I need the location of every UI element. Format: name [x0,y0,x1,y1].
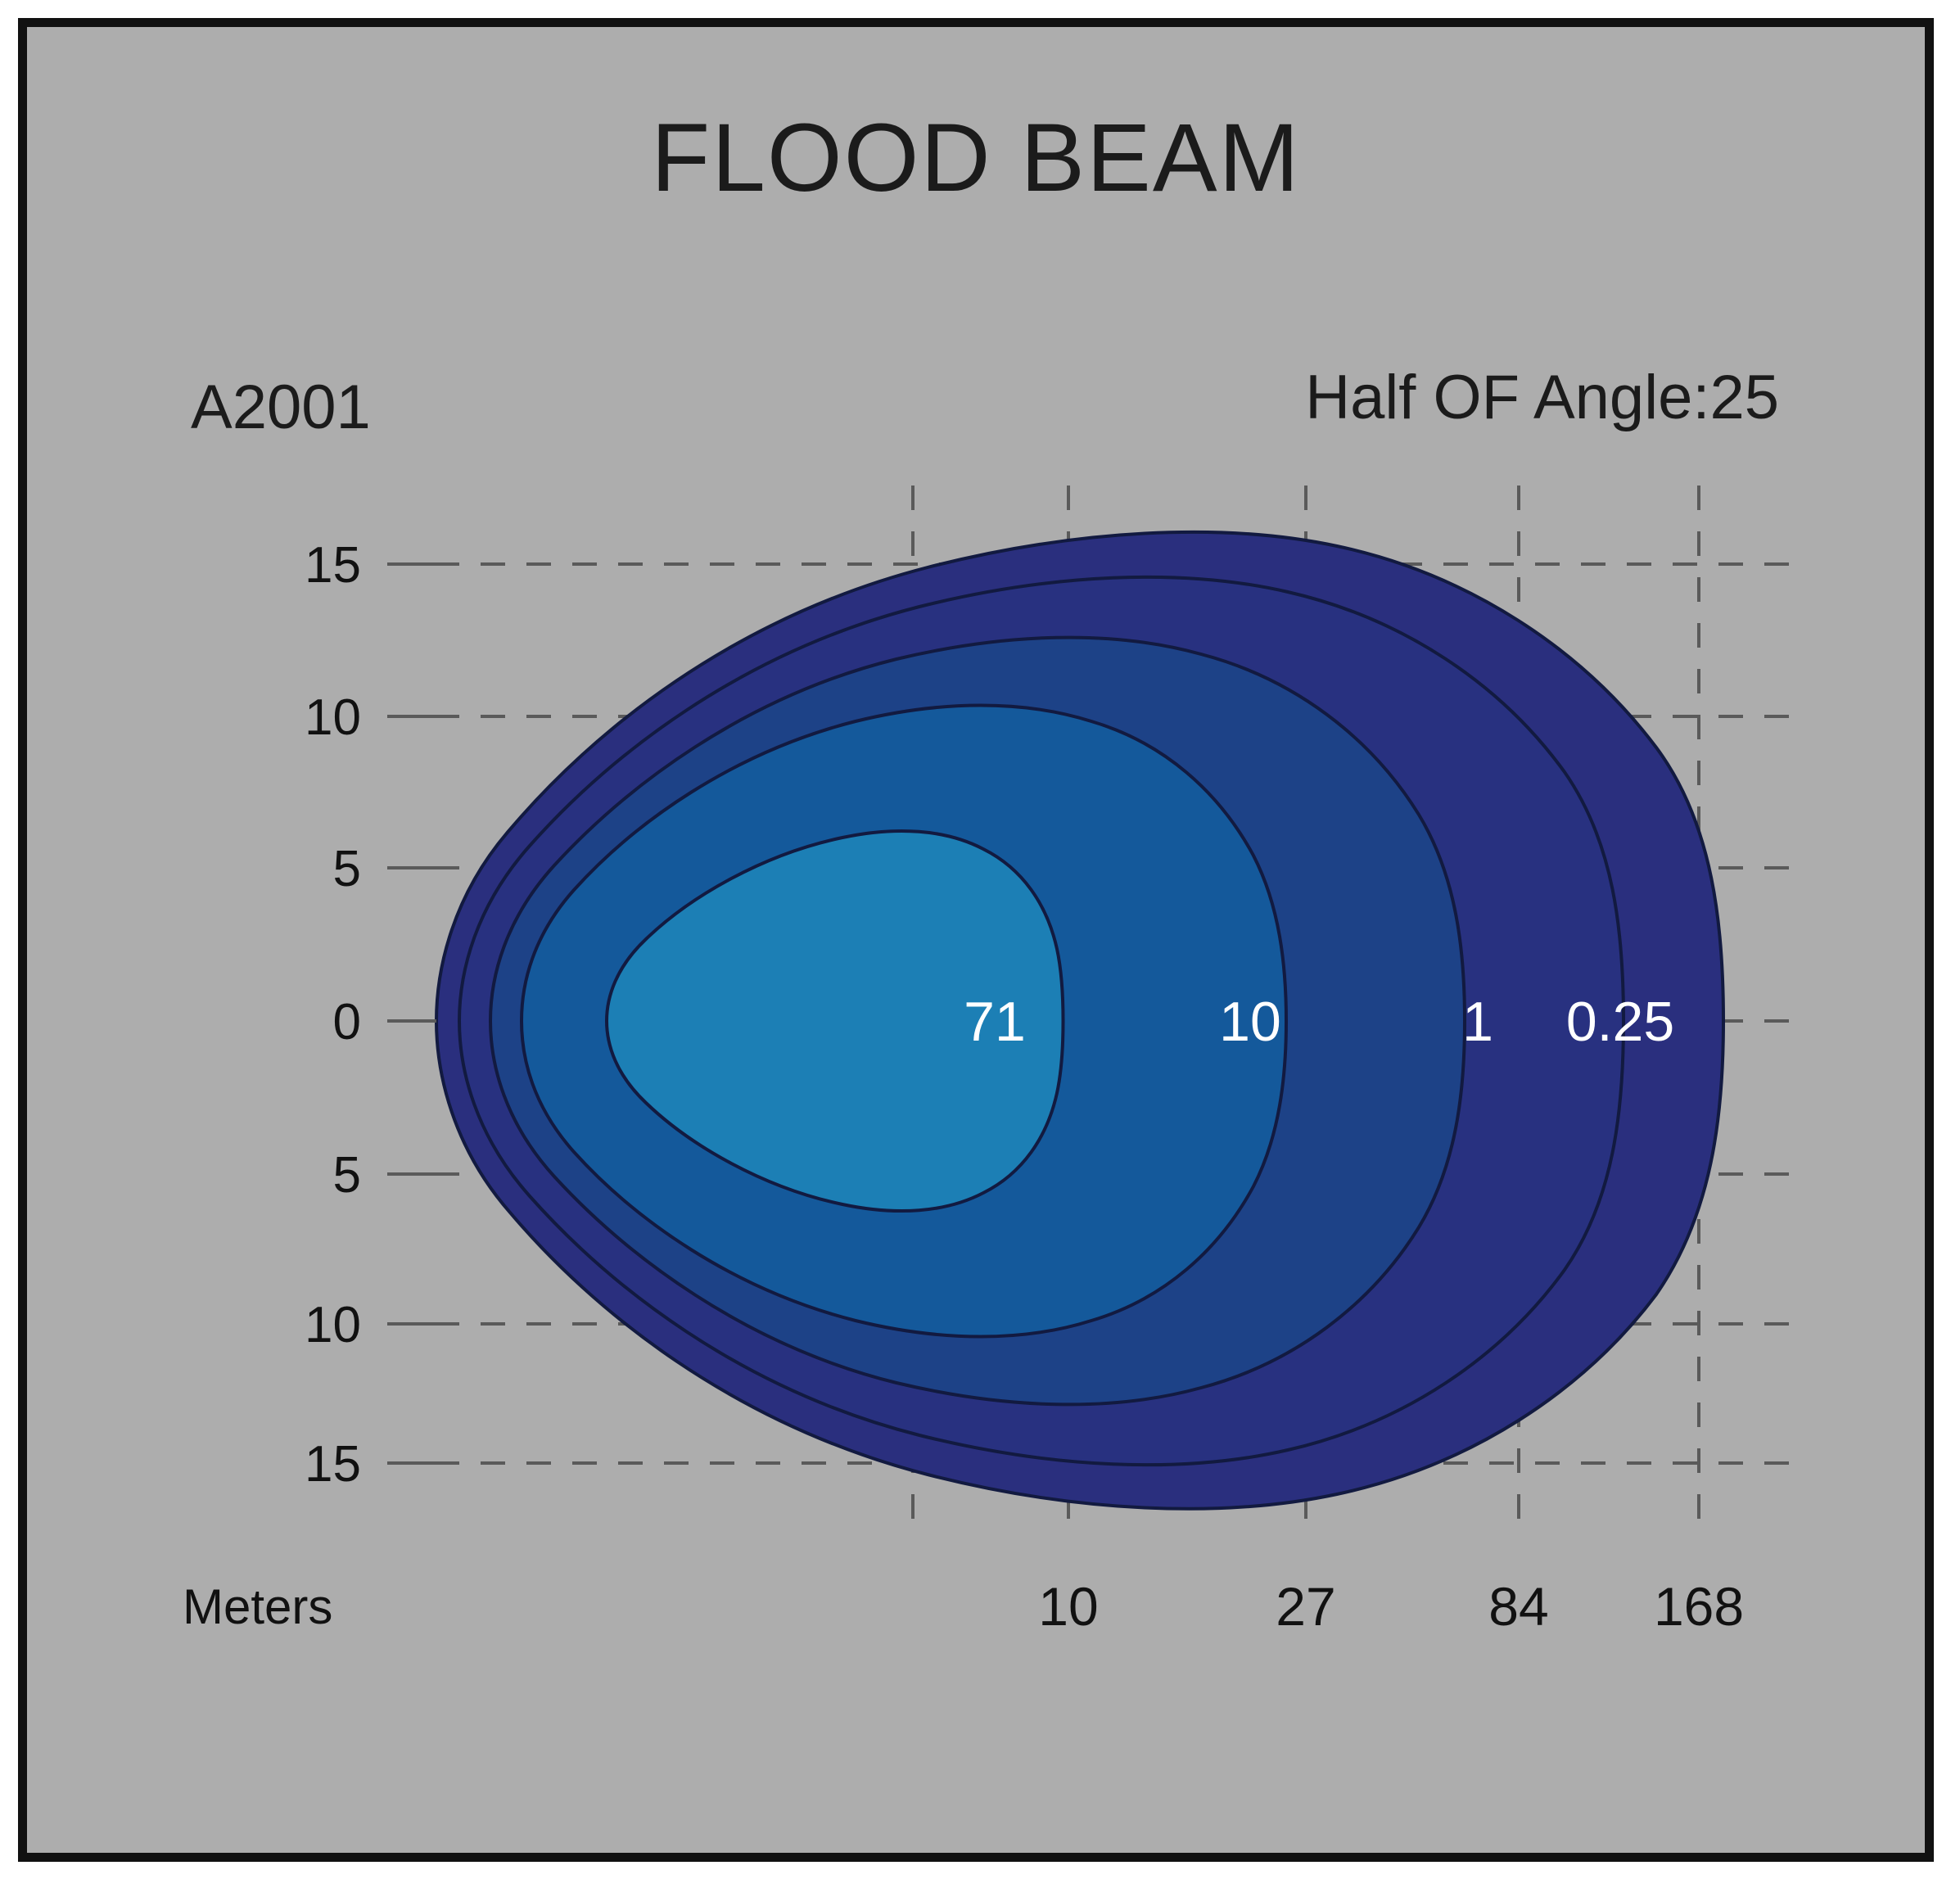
y-axis-tick-labels: 15 10 5 0 5 10 15 [305,537,361,1493]
x-tick-label: 10 [1038,1576,1098,1637]
half-angle-label: Half OF Angle:25 [1305,363,1779,432]
y-tick-label: 10 [305,689,361,746]
x-tick-label: 84 [1488,1576,1548,1637]
contour-bands [436,532,1723,1509]
contour-label-71: 71 [964,991,1026,1053]
y-tick-label: 15 [305,537,361,594]
x-axis-tick-labels: 10 27 84 168 [1038,1576,1744,1637]
y-tick-marks [387,564,436,1463]
y-tick-label: 15 [305,1436,361,1493]
contour-label-10: 10 [1219,991,1281,1053]
y-tick-label: 5 [333,841,361,897]
chart-stage: FLOOD BEAM A2001 Half OF Angle:25 15 10 … [27,27,1925,1853]
contour-label-0.25: 0.25 [1566,991,1674,1053]
y-tick-label: 10 [305,1297,361,1353]
model-label: A2001 [191,373,371,442]
x-tick-label: 27 [1276,1576,1335,1637]
beam-pattern-card: FLOOD BEAM A2001 Half OF Angle:25 15 10 … [18,18,1934,1862]
beam-contour-svg: FLOOD BEAM A2001 Half OF Angle:25 15 10 … [27,27,1925,1853]
x-tick-label: 168 [1654,1576,1744,1637]
y-tick-label: 5 [333,1147,361,1204]
y-tick-label: 0 [333,994,361,1050]
contour-label-1: 1 [1462,991,1493,1053]
x-axis-label: Meters [183,1579,332,1634]
page-title: FLOOD BEAM [651,104,1301,212]
